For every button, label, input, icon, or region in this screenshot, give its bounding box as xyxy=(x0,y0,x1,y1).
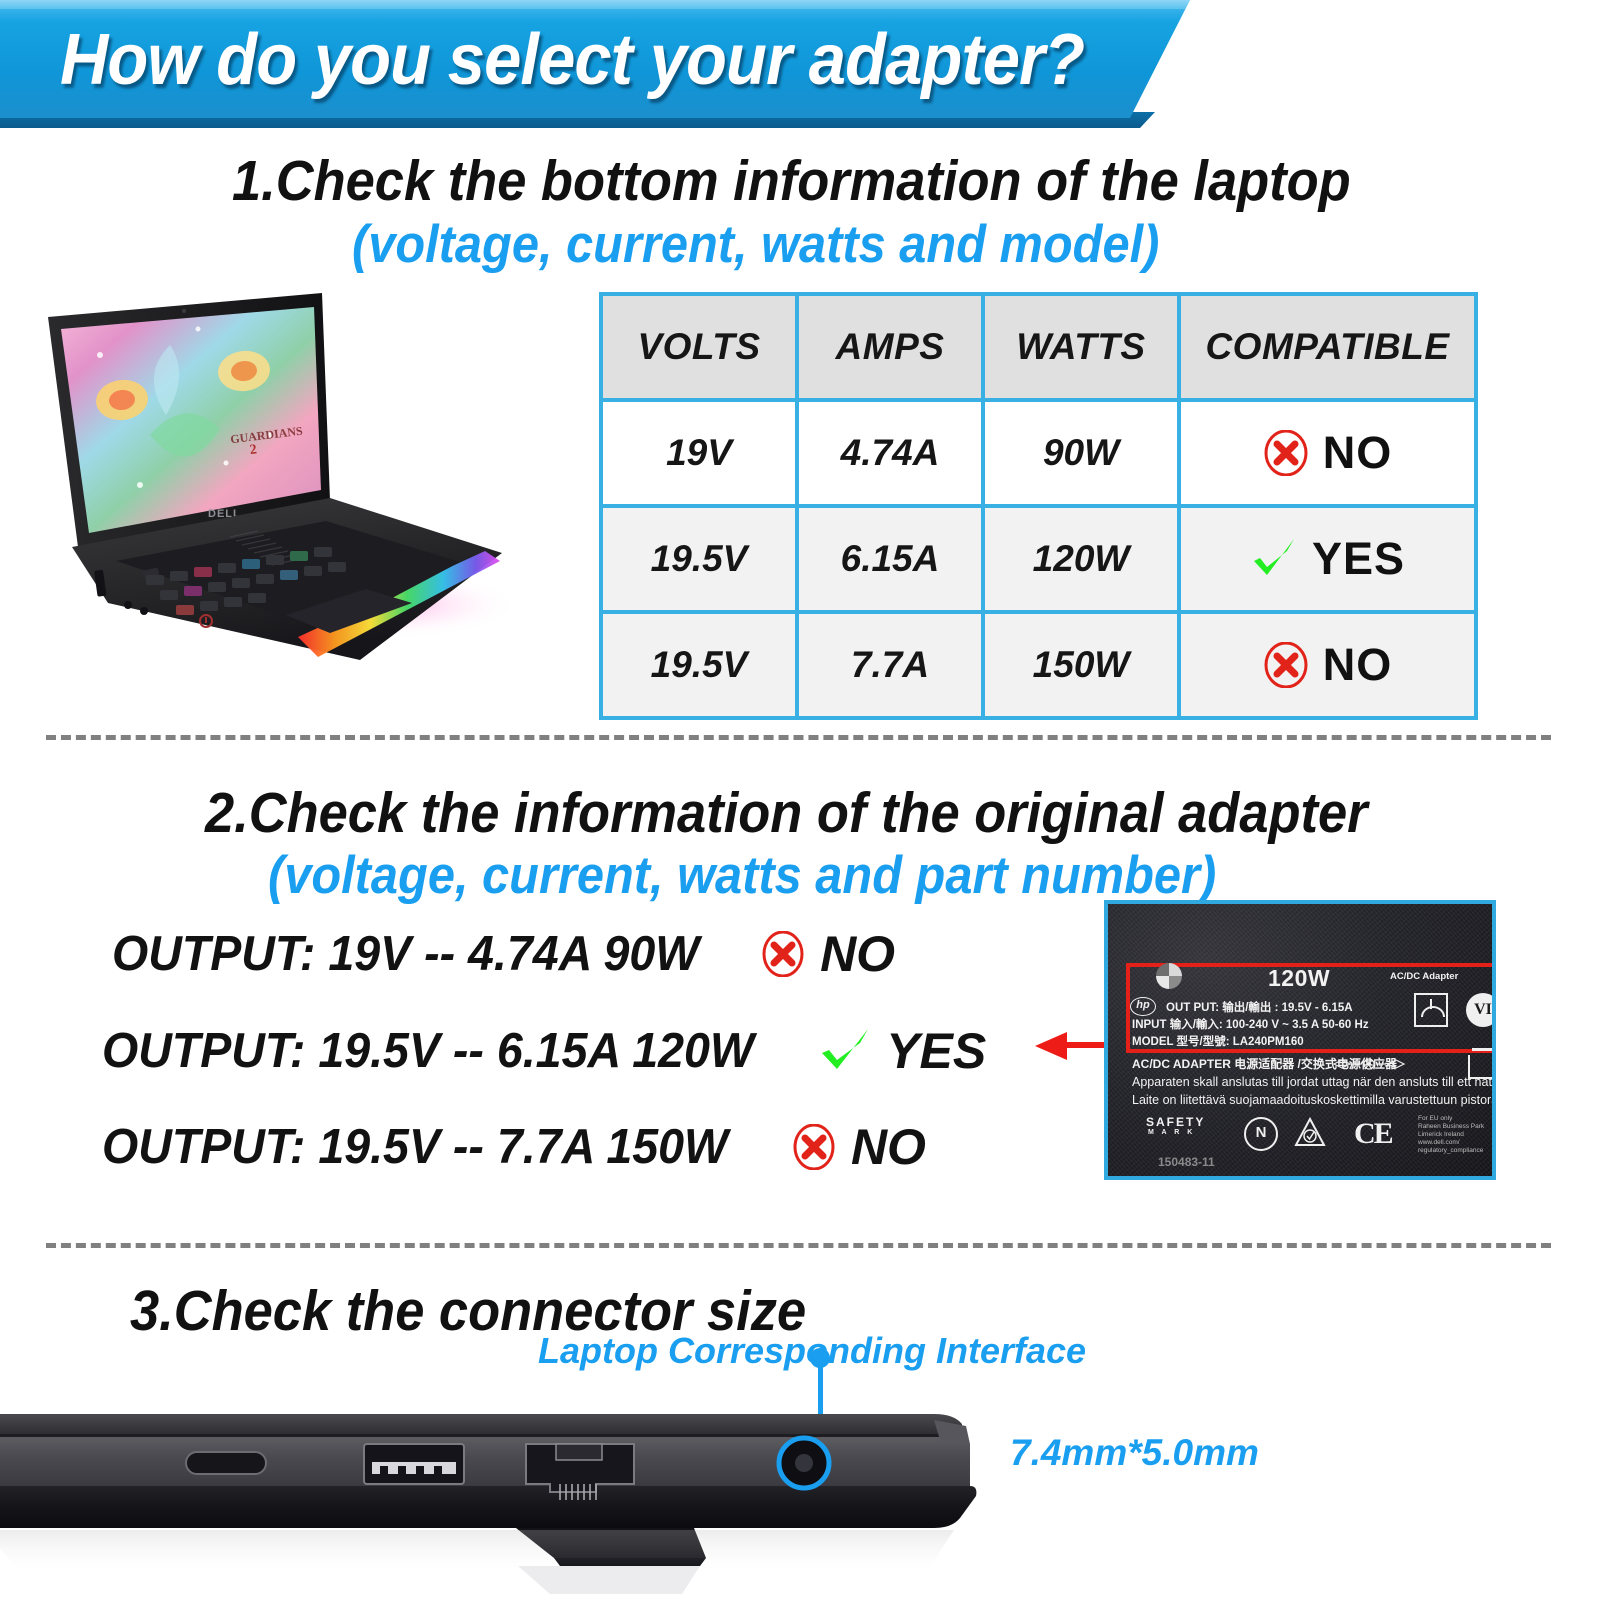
laptop-open-image: GUARDIANS 2 DELL xyxy=(30,285,590,670)
output-line: OUTPUT: 19.5V -- 7.7A 150W NO xyxy=(102,1118,926,1176)
cell-amps: 4.74A xyxy=(797,400,983,506)
label-swedish: Apparaten skall anslutas till jordat utt… xyxy=(1132,1075,1496,1089)
header-banner: How do you select your adapter? xyxy=(0,0,1235,118)
column-header-watts: WATTS xyxy=(983,294,1179,400)
hp-sphere-logo-icon xyxy=(1156,963,1182,989)
label-model: MODEL 型号/型號: LA240PM160 xyxy=(1132,1033,1304,1049)
efficiency-level-icon: VI xyxy=(1466,993,1496,1027)
column-header-volts: VOLTS xyxy=(601,294,797,400)
cell-volts: 19.5V xyxy=(601,612,797,718)
output-line: OUTPUT: 19V -- 4.74A 90W NO xyxy=(112,925,895,983)
banner-highlight xyxy=(0,0,1190,9)
section-divider-1 xyxy=(46,735,1551,740)
cell-amps: 6.15A xyxy=(797,506,983,612)
verdict-text: YES xyxy=(886,1022,986,1080)
ce-mark-icon: CE xyxy=(1354,1117,1392,1151)
step1-subheading: (voltage, current, watts and model) xyxy=(352,214,1159,275)
cell-watts: 150W xyxy=(983,612,1179,718)
cell-volts: 19V xyxy=(601,400,797,506)
cell-volts: 19.5V xyxy=(601,506,797,612)
n-mark-icon: N xyxy=(1244,1117,1278,1151)
label-type: AC/DC Adapter xyxy=(1390,971,1458,982)
output-spec-text: OUTPUT: 19.5V -- 6.15A 120W xyxy=(102,1023,754,1079)
spec-table: VOLTS AMPS WATTS COMPATIBLE 19V 4.74A 90… xyxy=(599,292,1450,720)
safety-mark-text: SAFETY xyxy=(1146,1115,1205,1129)
label-input: INPUT 输入/輸入: 100-240 V ~ 3.5 A 50-60 Hz xyxy=(1132,1016,1369,1032)
safety-mark-label: SAFETY M A R K xyxy=(1146,1115,1205,1136)
hp-logo-icon: hp xyxy=(1130,997,1156,1016)
label-code: 150483-11 xyxy=(1158,1155,1215,1169)
label-watts: 120W xyxy=(1268,965,1330,992)
circled-x-icon xyxy=(1263,642,1309,688)
column-header-amps: AMPS xyxy=(797,294,983,400)
section-divider-2 xyxy=(46,1243,1551,1248)
output-spec-text: OUTPUT: 19V -- 4.74A 90W xyxy=(112,926,699,982)
circled-x-icon xyxy=(1263,430,1309,476)
cell-compatible: NO xyxy=(1179,612,1476,718)
verdict-text: NO xyxy=(820,925,895,983)
cell-watts: 90W xyxy=(983,400,1179,506)
page-title: How do you select your adapter? xyxy=(60,14,1102,106)
column-header-compatible: COMPATIBLE xyxy=(1179,294,1476,400)
step1-heading: 1.Check the bottom information of the la… xyxy=(232,148,1351,214)
adapter-label-photo: 120W AC/DC Adapter hp OUT PUT: 输出/輸出 : 1… xyxy=(1104,900,1496,1180)
label-eu-address: For EU only Raheen Business Park Limeric… xyxy=(1418,1115,1484,1155)
step2-subheading: (voltage, current, watts and part number… xyxy=(268,845,1216,906)
table-row: 19.5V 7.7A 150W NO xyxy=(601,612,1476,718)
label-content: 120W AC/DC Adapter hp OUT PUT: 输出/輸出 : 1… xyxy=(1118,959,1492,1176)
verdict-text: NO xyxy=(1323,639,1393,691)
cell-watts: 120W xyxy=(983,506,1179,612)
dc-power-jack xyxy=(779,1438,829,1488)
step2-heading: 2.Check the information of the original … xyxy=(205,780,1368,846)
cell-compatible: NO xyxy=(1179,400,1476,506)
safety-mark-sub: M A R K xyxy=(1148,1129,1205,1136)
rcm-tick-icon xyxy=(1294,1117,1326,1147)
table-header-row: VOLTS AMPS WATTS COMPATIBLE xyxy=(601,294,1476,400)
polarity-icons xyxy=(1332,1057,1406,1069)
output-spec-text: OUTPUT: 19.5V -- 7.7A 150W xyxy=(102,1119,728,1175)
usb-a-port xyxy=(364,1444,464,1484)
laptop-side-profile-image xyxy=(0,1400,1004,1600)
class-ii-icon xyxy=(1414,993,1448,1027)
cell-amps: 7.7A xyxy=(797,612,983,718)
waste-bin-icon xyxy=(1468,1055,1496,1079)
verdict-text: NO xyxy=(851,1118,926,1176)
label-finnish: Laite on liitettävä suojamaadoituskosket… xyxy=(1132,1093,1496,1107)
connector-size-label: 7.4mm*5.0mm xyxy=(1010,1432,1259,1474)
verdict-text: YES xyxy=(1312,533,1405,585)
label-output: OUT PUT: 输出/輸出 : 19.5V - 6.15A xyxy=(1166,999,1353,1015)
usb-c-port xyxy=(186,1452,266,1474)
circled-x-icon xyxy=(791,1124,837,1170)
output-line: OUTPUT: 19.5V -- 6.15A 120W YES xyxy=(102,1022,986,1080)
table-row: 19.5V 6.15A 120W YES xyxy=(601,506,1476,612)
check-icon xyxy=(1250,537,1298,581)
table-row: 19V 4.74A 90W NO xyxy=(601,400,1476,506)
circled-x-icon xyxy=(760,931,806,977)
cell-compatible: YES xyxy=(1179,506,1476,612)
verdict-text: NO xyxy=(1323,427,1393,479)
check-icon xyxy=(818,1027,872,1075)
